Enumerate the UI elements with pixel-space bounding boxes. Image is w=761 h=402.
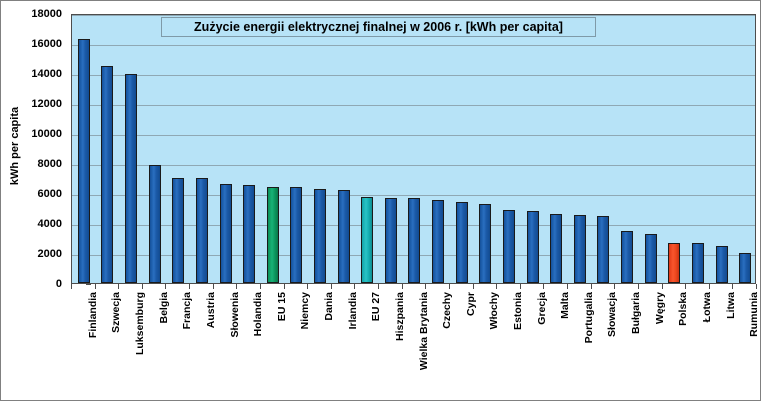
x-axis-label: Grecja [536,292,548,325]
bar-slot [521,13,545,283]
bar-slot [332,13,356,283]
x-axis-tick-mark [236,284,237,289]
x-axis-tick-mark [709,284,710,289]
x-axis-tick-mark [614,284,615,289]
bar-series [72,15,755,283]
x-axis-tick-mark [142,284,143,289]
bar-slot [615,13,639,283]
bar-eu-15[interactable] [267,187,279,283]
bar-łotwa[interactable] [692,243,704,283]
y-axis-tick-label: 2000 [38,248,62,260]
y-axis-tick-label: 10000 [31,128,62,140]
x-axis-label: Holandia [252,292,264,336]
bar-slot [686,13,710,283]
plot-area [71,14,756,284]
x-axis-tick-mark [567,284,568,289]
x-axis-tick-mark [732,284,733,289]
x-axis-tick-mark [473,284,474,289]
y-axis-tick-label: 12000 [31,98,62,110]
bar-slot [639,13,663,283]
bar-slot [568,13,592,283]
x-axis-label: Niemcy [299,292,311,329]
x-axis-tick-mark [71,284,72,289]
x-axis-label: Czechy [441,292,453,329]
x-axis-label: Estonia [512,292,524,330]
bar-slot [166,13,190,283]
bar-slot [733,13,757,283]
x-axis-label: Szwecja [110,292,122,333]
bar-eu-27[interactable] [361,197,373,283]
bar-luksemburg[interactable] [125,74,137,283]
x-axis-label: Belgia [158,292,170,324]
y-axis-tick-label: 6000 [38,188,62,200]
x-axis-tick-mark [307,284,308,289]
bar-irlandia[interactable] [338,190,350,283]
x-axis-label: Francja [181,292,193,329]
bar-portugalia[interactable] [574,215,586,283]
bar-malta[interactable] [550,214,562,283]
y-axis-tick-labels: 0200040006000800010000120001400016000180… [21,1,66,402]
bar-slot [592,13,616,283]
x-axis-tick-mark [496,284,497,289]
bar-hiszpania[interactable] [385,198,397,283]
x-axis-label: Łotwa [701,292,713,322]
bar-slot [72,13,96,283]
x-axis-label: Hiszpania [394,292,406,341]
x-axis-label: Polska [677,292,689,326]
y-axis-title-text: kWh per capita [9,107,21,185]
y-axis-tick-label: 8000 [38,158,62,170]
x-axis-label: Słowacja [606,292,618,337]
bar-slot [190,13,214,283]
bar-grecja[interactable] [527,211,539,283]
bar-slot [261,13,285,283]
x-axis-tick-mark [638,284,639,289]
x-axis-label: Litwa [725,292,737,319]
x-axis-label: EU 27 [370,292,382,321]
y-axis-tick-label: 18000 [31,8,62,20]
bar-szwecja[interactable] [101,66,113,283]
x-axis-label: Luksemburg [134,292,146,355]
bar-czechy[interactable] [432,200,444,283]
chart-title: Zużycie energii elektrycznej finalnej w … [161,17,596,37]
bar-bułgaria[interactable] [621,231,633,283]
bar-wielka-brytania[interactable] [408,198,420,283]
y-axis-tick-label: 0 [56,278,62,290]
x-axis-tick-mark [260,284,261,289]
y-axis-tick-label: 16000 [31,38,62,50]
bar-slot [710,13,734,283]
x-axis-label: Austria [205,292,217,328]
bar-slot [450,13,474,283]
bar-estonia[interactable] [503,210,515,283]
x-axis-tick-mark [591,284,592,289]
x-axis-tick-mark [756,284,757,289]
bar-włochy[interactable] [479,204,491,283]
bar-slot [379,13,403,283]
bar-slot [497,13,521,283]
bar-finlandia[interactable] [78,39,90,284]
x-axis-label: Rumunia [748,292,760,337]
bar-slot [96,13,120,283]
bar-slot [285,13,309,283]
x-axis-tick-mark [331,284,332,289]
bar-słowenia[interactable] [220,184,232,283]
x-axis-tick-mark [402,284,403,289]
bar-slot [403,13,427,283]
x-axis-label: Włochy [488,292,500,329]
x-axis-label: Węgry [654,292,666,324]
bar-dania[interactable] [314,189,326,283]
bar-holandia[interactable] [243,185,255,283]
x-axis-label: Cypr [465,292,477,316]
bar-slot [474,13,498,283]
x-axis-label: Irlandia [347,292,359,329]
chart-figure: kWh per capita 0200040006000800010000120… [0,0,761,401]
x-axis-tick-mark [378,284,379,289]
bar-belgia[interactable] [149,165,161,283]
x-axis-tick-mark [284,284,285,289]
bar-litwa[interactable] [716,246,728,283]
x-axis-label: Dania [323,292,335,321]
y-axis-tick-label: 4000 [38,218,62,230]
bar-slot [426,13,450,283]
x-axis: FinlandiaSzwecjaLuksemburgBelgiaFrancjaA… [71,284,756,402]
bar-slot [237,13,261,283]
bar-slot [308,13,332,283]
bar-slot [119,13,143,283]
x-axis-tick-mark [118,284,119,289]
bar-slot [355,13,379,283]
bar-węgry[interactable] [645,234,657,283]
x-axis-tick-mark [425,284,426,289]
bar-słowacja[interactable] [597,216,609,283]
x-axis-tick-mark [543,284,544,289]
bar-austria[interactable] [196,178,208,283]
y-axis-tick-label: 14000 [31,68,62,80]
bar-polska[interactable] [668,243,680,284]
x-axis-tick-mark [685,284,686,289]
bar-slot [143,13,167,283]
x-axis-label: Malta [559,292,571,319]
x-axis-label: Wielka Brytania [418,292,430,370]
bar-francja[interactable] [172,178,184,283]
x-axis-label: Finlandia [87,292,99,338]
bar-niemcy[interactable] [290,187,302,283]
bar-slot [663,13,687,283]
x-axis-tick-mark [354,284,355,289]
x-axis-label: EU 15 [276,292,288,321]
x-axis-tick-mark [189,284,190,289]
x-axis-tick-mark [213,284,214,289]
bar-slot [214,13,238,283]
bar-slot [544,13,568,283]
x-axis-tick-mark [449,284,450,289]
x-axis-tick-mark [520,284,521,289]
x-axis-label: Słowenia [229,292,241,338]
bar-rumunia[interactable] [739,253,751,283]
x-axis-label: Bułgaria [630,292,642,334]
bar-cypr[interactable] [456,202,468,283]
x-axis-tick-mark [165,284,166,289]
x-axis-tick-mark [95,284,96,289]
x-axis-tick-mark [662,284,663,289]
x-axis-label: Portugalia [583,292,595,343]
